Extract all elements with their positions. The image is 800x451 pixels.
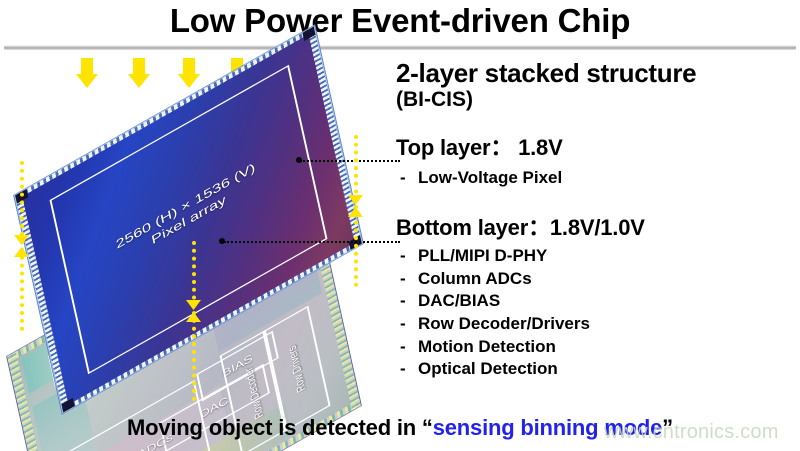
list-item: - DAC/BIAS bbox=[396, 290, 800, 313]
bottom-layer-list: - PLL/MIPI D-PHY - Column ADCs - DAC/BIA… bbox=[396, 245, 800, 381]
top-layer-heading: Top layer： 1.8V bbox=[396, 130, 800, 162]
structure-heading: 2-layer stacked structure bbox=[396, 60, 800, 87]
list-item-label: Row Decoder/Drivers bbox=[418, 314, 590, 333]
list-item: - Row Decoder/Drivers bbox=[396, 313, 800, 336]
page-title: Low Power Event-driven Chip bbox=[0, 2, 800, 40]
bullet-dash: - bbox=[400, 336, 406, 359]
list-item-label: PLL/MIPI D-PHY bbox=[418, 246, 547, 265]
pixel-array-line1: 2560 (H) × 1536 (V) bbox=[115, 160, 257, 251]
list-item: - PLL/MIPI D-PHY bbox=[396, 245, 800, 268]
leader-line-bottom-layer bbox=[224, 241, 400, 243]
dimension-arrow-center bbox=[186, 300, 201, 322]
pixel-array-outline: 2560 (H) × 1536 (V) Pixel array bbox=[50, 65, 328, 374]
list-item-label: DAC/BIAS bbox=[418, 291, 500, 310]
bullet-dash: - bbox=[400, 245, 406, 268]
bullet-dash: - bbox=[400, 358, 406, 381]
list-item-label: Optical Detection bbox=[418, 359, 558, 378]
bottom-layer-heading: Bottom layer：1.8V/1.0V bbox=[396, 210, 800, 242]
list-item-label: Low-Voltage Pixel bbox=[418, 168, 562, 187]
list-item: - Low-Voltage Pixel bbox=[396, 166, 800, 190]
list-item-label: Motion Detection bbox=[418, 337, 556, 356]
dimension-arrow-right bbox=[348, 195, 363, 217]
list-item: - Motion Detection bbox=[396, 336, 800, 359]
caption-prefix: Moving object is detected in “ bbox=[127, 415, 433, 440]
structure-subheading: (BI-CIS) bbox=[396, 88, 800, 111]
dimension-arrow-left bbox=[14, 235, 29, 257]
bullet-dash: - bbox=[400, 313, 406, 336]
list-item: - Optical Detection bbox=[396, 358, 800, 381]
spec-column: 2-layer stacked structure (BI-CIS) Top l… bbox=[396, 60, 800, 381]
leader-line-top-layer bbox=[300, 160, 400, 162]
top-layer-die: 2560 (H) × 1536 (V) Pixel array bbox=[16, 47, 361, 392]
bullet-dash: - bbox=[400, 166, 406, 190]
list-item: - Column ADCs bbox=[396, 268, 800, 291]
pixel-array-label: 2560 (H) × 1536 (V) Pixel array bbox=[66, 132, 308, 294]
slide-root: Low Power Event-driven Chip bbox=[0, 0, 800, 451]
bullet-dash: - bbox=[400, 290, 406, 313]
top-layer-list: - Low-Voltage Pixel bbox=[396, 166, 800, 190]
watermark: www.cntronics.com bbox=[604, 421, 779, 444]
bullet-dash: - bbox=[400, 268, 406, 291]
list-item-label: Column ADCs bbox=[418, 269, 532, 288]
chip-diagram: PLL I/F BIAS DAC Column ADCs Row Decoder… bbox=[0, 55, 396, 415]
